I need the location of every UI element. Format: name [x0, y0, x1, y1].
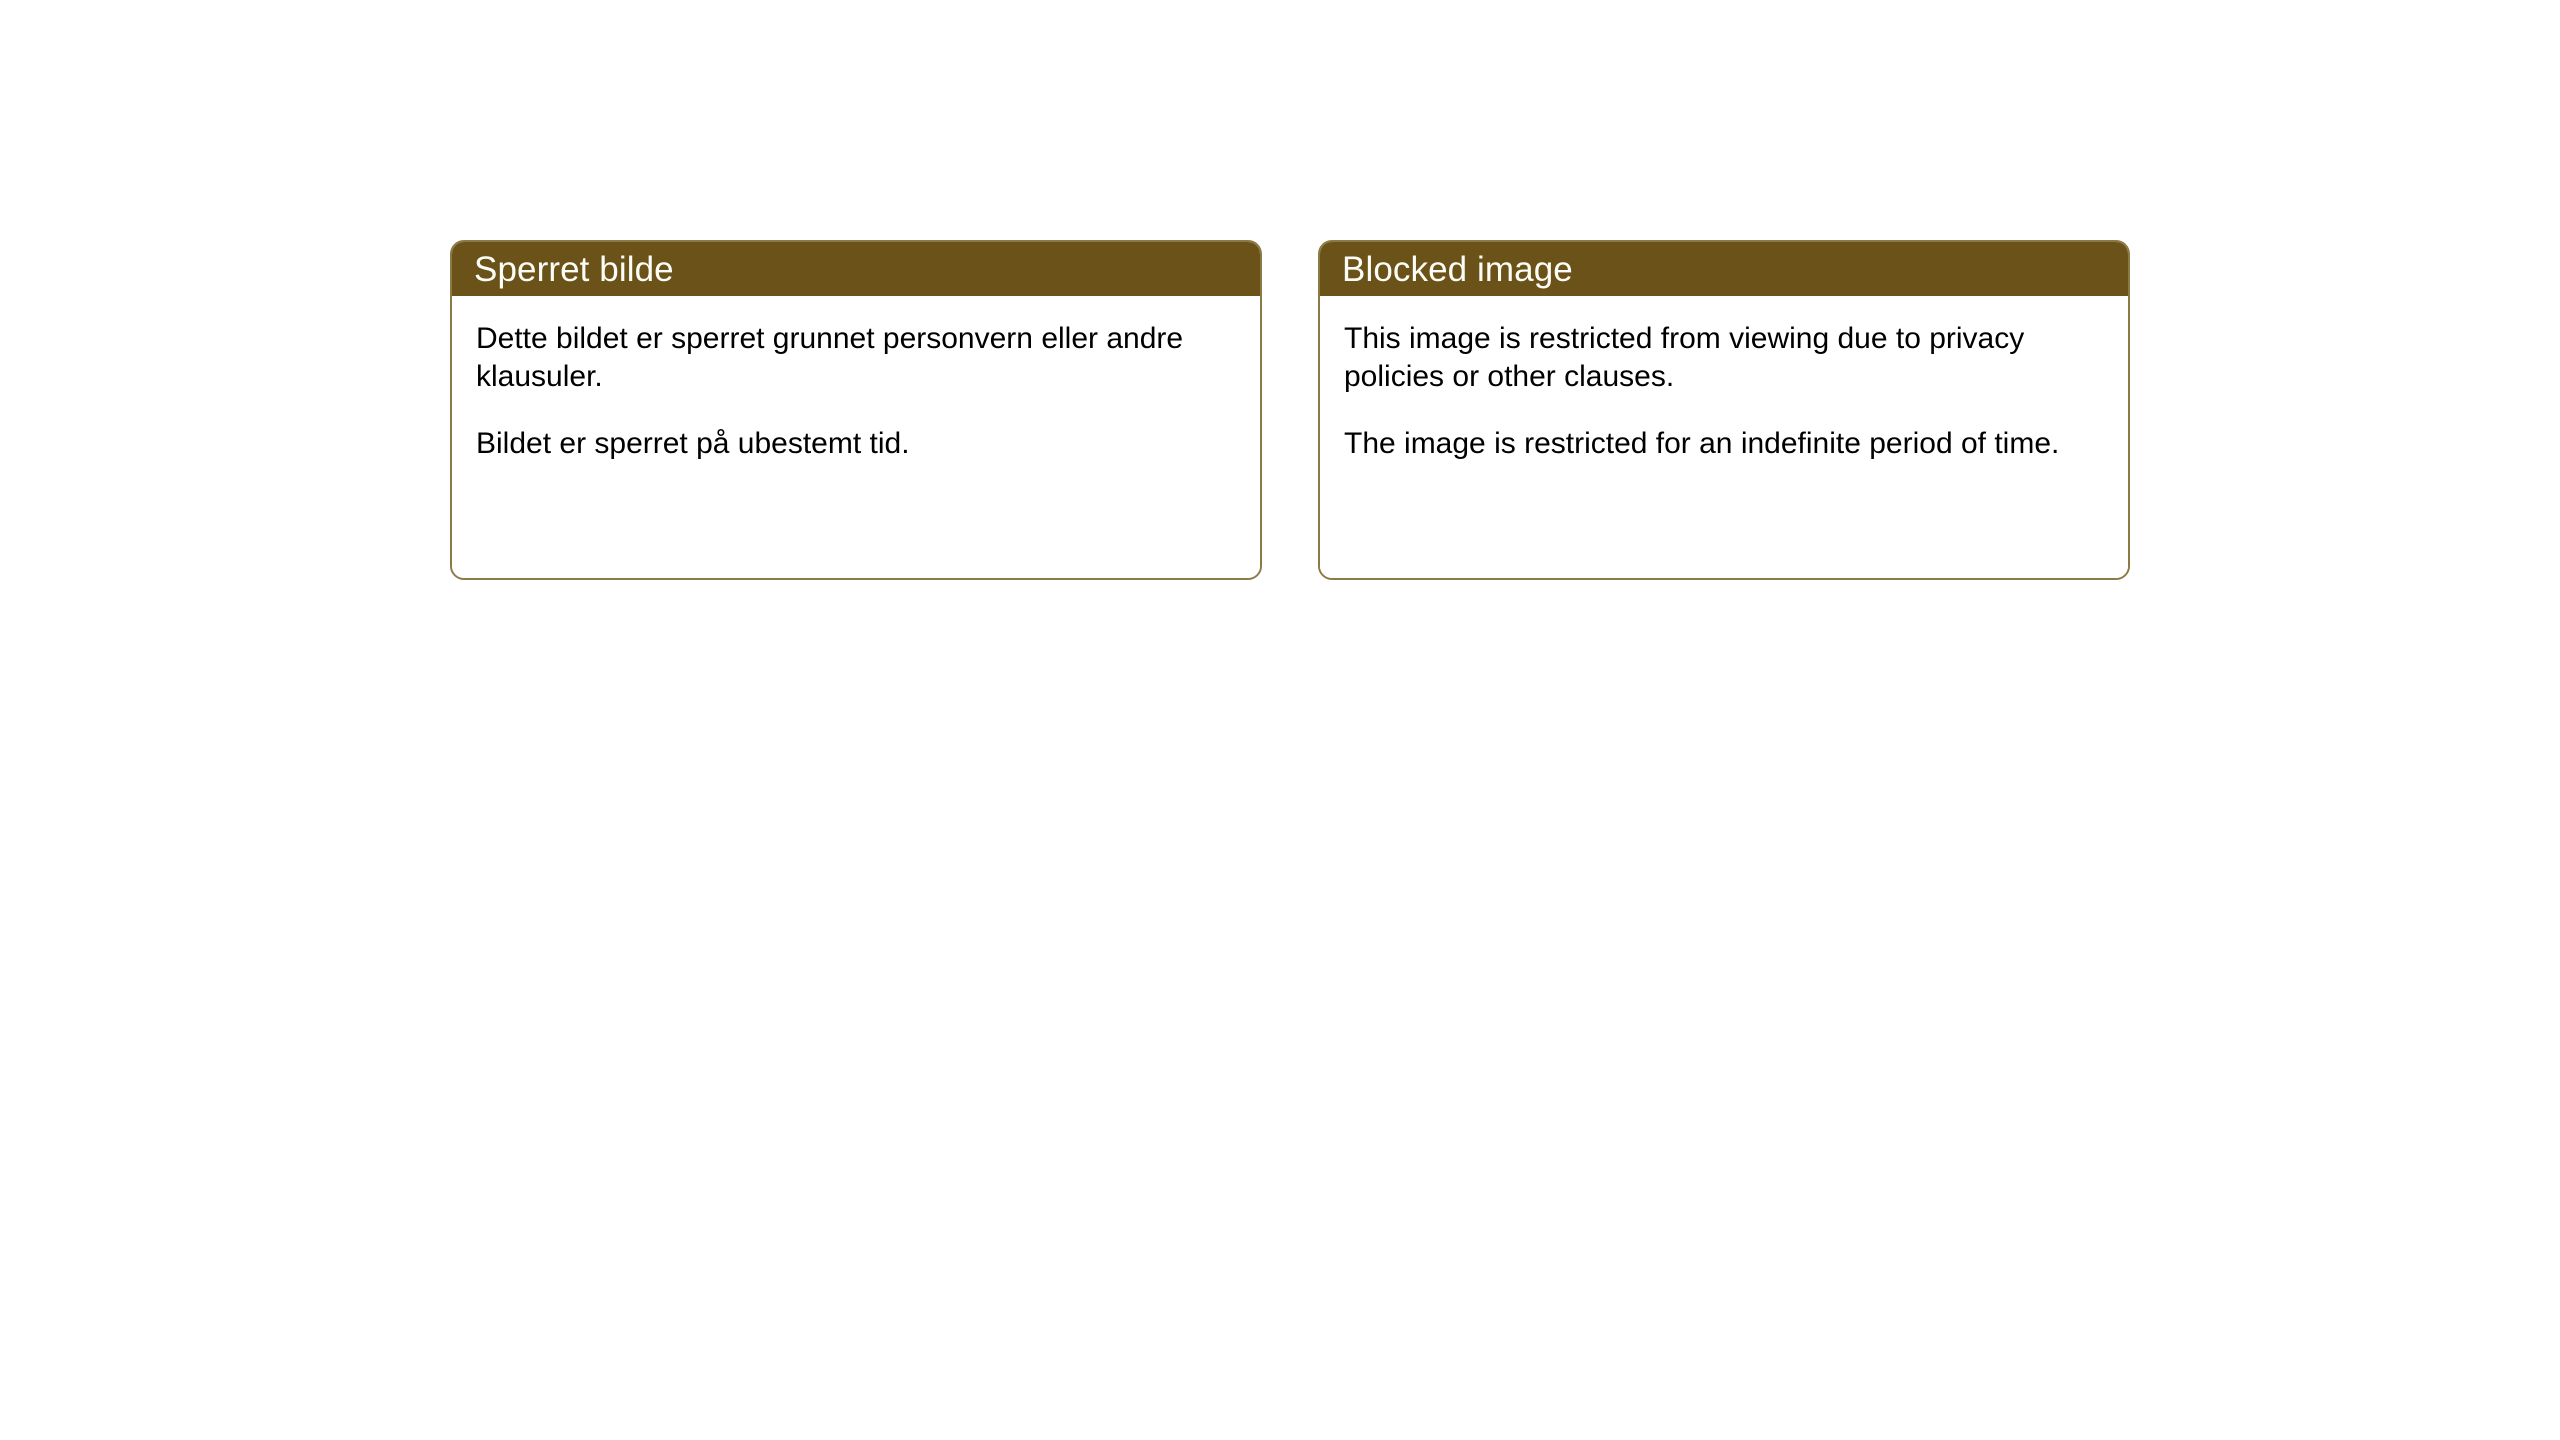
blocked-image-panel-norwegian: Sperret bilde Dette bildet er sperret gr… [450, 240, 1262, 580]
blocked-image-panel-english: Blocked image This image is restricted f… [1318, 240, 2130, 580]
panel-title-norwegian: Sperret bilde [474, 252, 674, 287]
panel-body-english: This image is restricted from viewing du… [1320, 296, 2128, 578]
panel-paragraph-english-1: This image is restricted from viewing du… [1344, 320, 2102, 395]
panel-header-english: Blocked image [1320, 242, 2128, 296]
panel-title-english: Blocked image [1342, 252, 1573, 287]
panel-paragraph-norwegian-1: Dette bildet er sperret grunnet personve… [476, 320, 1234, 395]
page-root: Sperret bilde Dette bildet er sperret gr… [0, 0, 2560, 1440]
blocked-image-notice-group: Sperret bilde Dette bildet er sperret gr… [450, 240, 2130, 580]
panel-paragraph-norwegian-2: Bildet er sperret på ubestemt tid. [476, 425, 1234, 463]
panel-paragraph-english-2: The image is restricted for an indefinit… [1344, 425, 2102, 463]
panel-body-norwegian: Dette bildet er sperret grunnet personve… [452, 296, 1260, 578]
panel-header-norwegian: Sperret bilde [452, 242, 1260, 296]
